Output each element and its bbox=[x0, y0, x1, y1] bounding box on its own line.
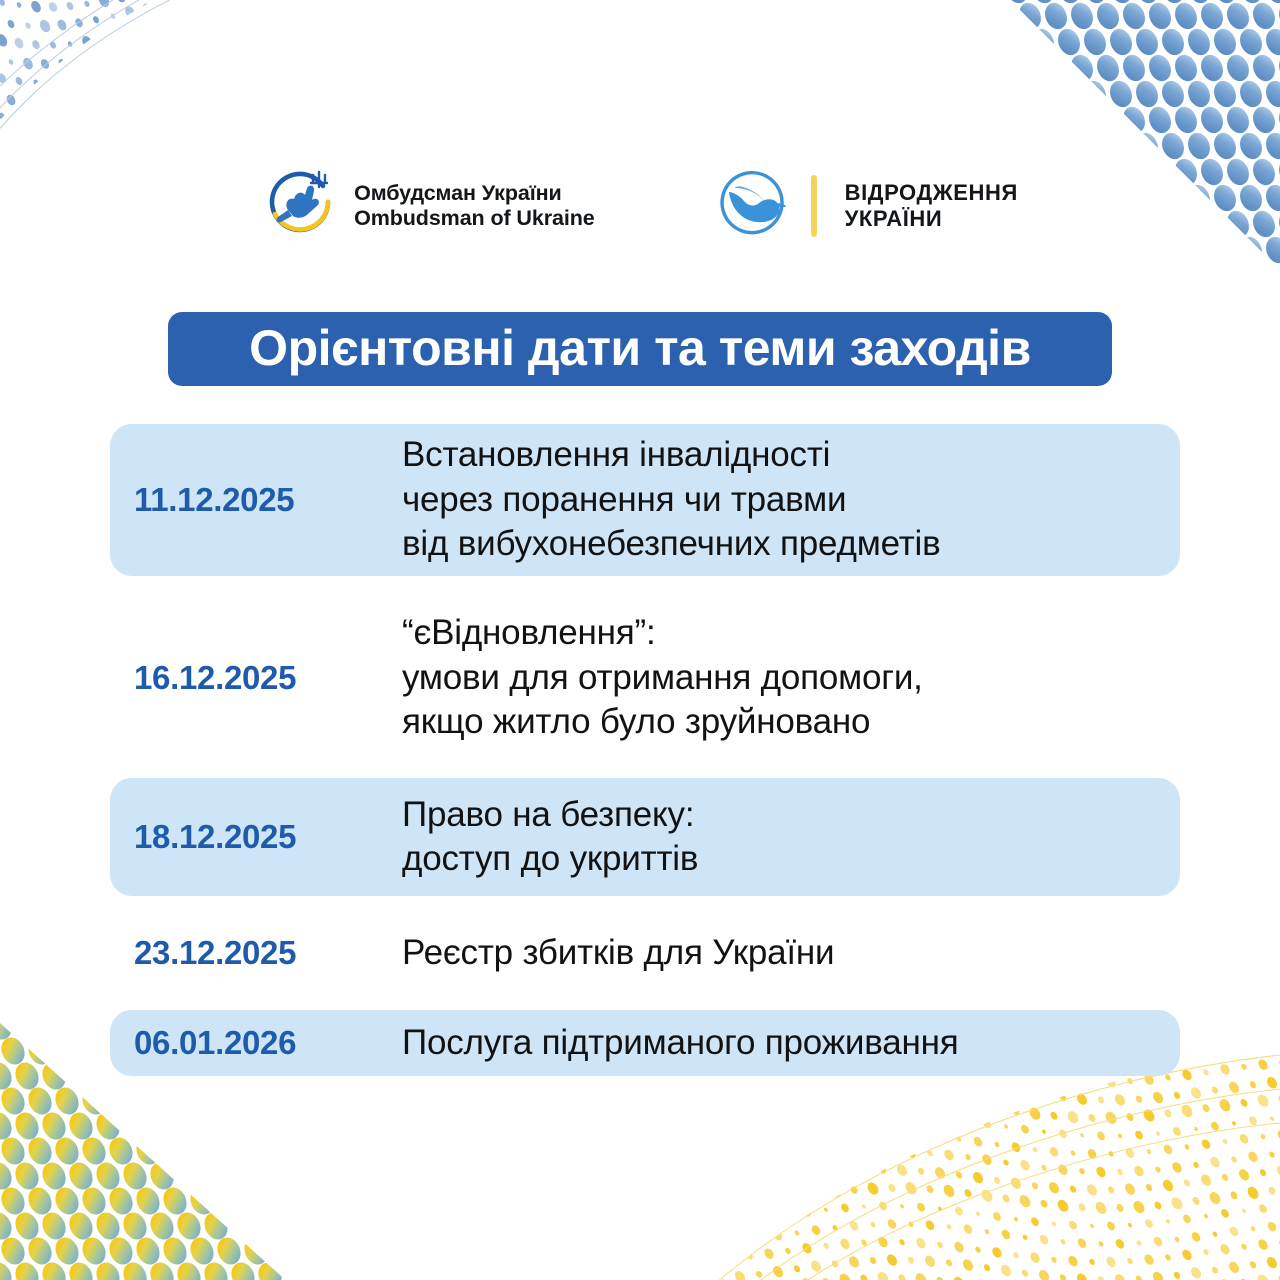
schedule-topic-line: “єВідновлення”: bbox=[402, 611, 1154, 655]
schedule-row-date: 23.12.2025 bbox=[126, 934, 402, 972]
schedule-topic-line: від вибухонебезпечних предметів bbox=[402, 522, 1154, 566]
schedule-row-topic: Право на безпеку:доступ до укриттів bbox=[402, 793, 1154, 882]
vidrodzhennia-logo: ВІДРОДЖЕННЯ УКРАЇНИ bbox=[713, 166, 1018, 247]
vidrodzhennia-label-line1: ВІДРОДЖЕННЯ bbox=[845, 180, 1018, 206]
header-logos: Омбудсман України Ombudsman of Ukraine В… bbox=[0, 160, 1280, 252]
schedule-topic-line: умови для отримання допомоги, bbox=[402, 656, 1154, 700]
ombudsman-dove-hand-icon bbox=[262, 164, 340, 249]
schedule-row-topic: Послуга підтриманого проживання bbox=[402, 1021, 1154, 1065]
schedule-list: 11.12.2025Встановлення інвалідностічерез… bbox=[110, 424, 1180, 1076]
schedule-row-gap bbox=[110, 576, 1180, 602]
schedule-row: 11.12.2025Встановлення інвалідностічерез… bbox=[110, 424, 1180, 576]
schedule-topic-line: Встановлення інвалідності bbox=[402, 433, 1154, 477]
schedule-row: 18.12.2025Право на безпеку:доступ до укр… bbox=[110, 778, 1180, 896]
schedule-topic-line: Послуга підтриманого проживання bbox=[402, 1021, 1154, 1065]
schedule-row-topic: Встановлення інвалідностічерез поранення… bbox=[402, 433, 1154, 566]
schedule-row: 23.12.2025Реєстр збитків для України bbox=[110, 920, 1180, 986]
vidrodzhennia-label-line2: УКРАЇНИ bbox=[845, 206, 1018, 232]
schedule-row-date: 18.12.2025 bbox=[126, 818, 402, 856]
schedule-row: 16.12.2025“єВідновлення”:умови для отрим… bbox=[110, 602, 1180, 754]
schedule-row-topic: Реєстр збитків для України bbox=[402, 931, 1154, 975]
schedule-topic-line: Право на безпеку: bbox=[402, 793, 1154, 837]
schedule-topic-line: доступ до укриттів bbox=[402, 837, 1154, 881]
page-title: Орієнтовні дати та теми заходів bbox=[249, 323, 1031, 373]
schedule-row-date: 11.12.2025 bbox=[126, 481, 402, 519]
logo-divider bbox=[811, 175, 817, 237]
schedule-topic-line: через поранення чи травми bbox=[402, 478, 1154, 522]
page-title-banner: Орієнтовні дати та теми заходів bbox=[168, 312, 1112, 386]
schedule-row-gap bbox=[110, 896, 1180, 920]
schedule-row-date: 06.01.2026 bbox=[126, 1024, 402, 1062]
phoenix-bird-icon bbox=[713, 166, 791, 247]
schedule-row-gap bbox=[110, 754, 1180, 778]
schedule-row-date: 16.12.2025 bbox=[126, 659, 402, 697]
schedule-topic-line: якщо житло було зруйновано bbox=[402, 700, 1154, 744]
poster-canvas: Омбудсман України Ombudsman of Ukraine В… bbox=[0, 0, 1280, 1280]
schedule-row: 06.01.2026Послуга підтриманого проживанн… bbox=[110, 1010, 1180, 1076]
schedule-row-topic: “єВідновлення”:умови для отримання допом… bbox=[402, 611, 1154, 744]
schedule-row-gap bbox=[110, 986, 1180, 1010]
ombudsman-label-en: Ombudsman of Ukraine bbox=[354, 206, 595, 231]
schedule-topic-line: Реєстр збитків для України bbox=[402, 931, 1154, 975]
ombudsman-logo: Омбудсман України Ombudsman of Ukraine bbox=[262, 164, 595, 249]
ombudsman-label-uk: Омбудсман України bbox=[354, 181, 595, 206]
